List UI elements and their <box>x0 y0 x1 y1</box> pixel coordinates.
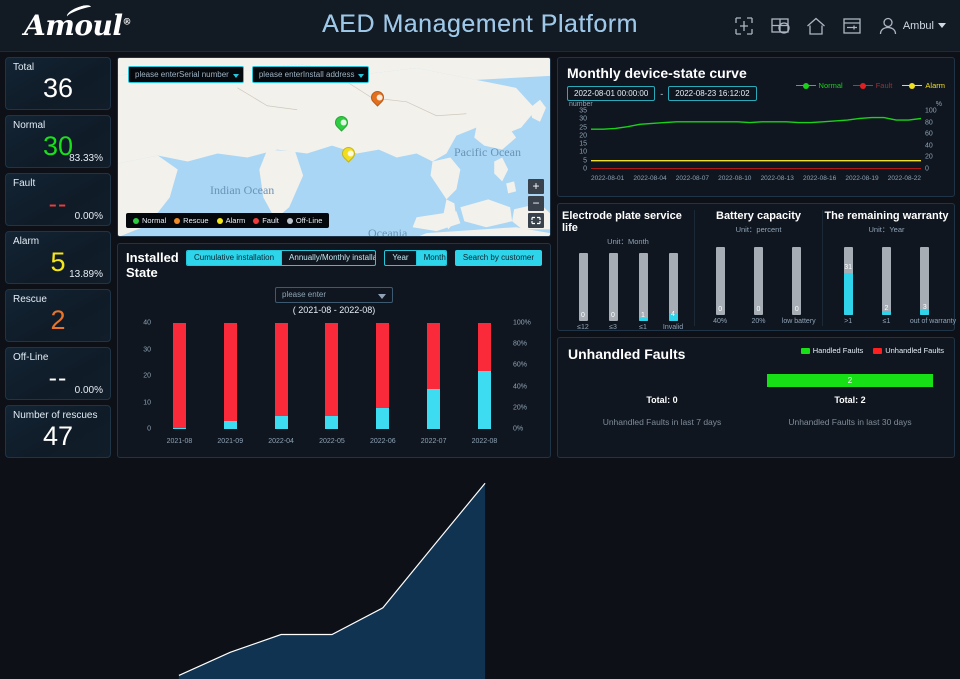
x-tick: 2022-04 <box>264 438 298 445</box>
stat-card-offline[interactable]: Off-Line -- 0.00% <box>5 347 111 400</box>
bar-chart-y-axis-left: 0 10 20 30 40 <box>128 323 154 429</box>
y-tick: 15 <box>579 141 587 148</box>
curve-y-axis-left: 0 5 10 15 20 25 30 35 <box>567 111 589 169</box>
curve-y-axis-right: 0 20 40 60 80 100 <box>923 111 945 169</box>
metric-bar-value: 4 <box>669 311 678 318</box>
y2-tick: 0% <box>513 426 523 433</box>
y-tick: 35 <box>579 108 587 115</box>
center-column: please enterSerial number please enterIn… <box>117 57 551 458</box>
metric-bars: 31 >1 2 ≤1 3 <box>823 235 950 325</box>
map-fullscreen-icon[interactable] <box>528 213 544 228</box>
y2-tick: 40 <box>925 142 933 149</box>
metric-bar[interactable]: 4 Invalid <box>658 253 688 331</box>
metric-bar[interactable]: 2 ≤1 <box>871 241 901 325</box>
x-tick: 2021-08 <box>162 438 196 445</box>
metric-bar-label: ≤12 <box>568 324 598 331</box>
x-tick: 2022-08-10 <box>718 175 751 182</box>
stat-percent: 0.00% <box>75 385 103 396</box>
fault-caption: Unhandled Faults in last 7 days <box>568 417 756 427</box>
stat-value: 2 <box>13 305 103 335</box>
legend-swatch <box>873 348 882 354</box>
y-tick: 10 <box>143 399 151 406</box>
metric-bar-value: 2 <box>882 305 891 312</box>
map-legend: Normal Rescue Alarm Fault <box>126 213 329 228</box>
dashboard-icon[interactable] <box>769 15 791 37</box>
legend-line <box>796 85 816 86</box>
legend-item-handled-faults[interactable]: Handled Faults <box>801 346 863 355</box>
metric-bar-value: 1 <box>639 312 648 319</box>
legend-label: Fault <box>262 216 279 225</box>
curve-date-range: 2022-08-01 00:00:00 - 2022-08-23 16:12:0… <box>567 86 757 101</box>
electrode-plate-service-life: Electrode plate service life Unit：Month … <box>562 210 694 326</box>
stat-card-alarm[interactable]: Alarm 5 13.89% <box>5 231 111 284</box>
y-tick: 30 <box>143 346 151 353</box>
battery-capacity: Battery capacity Unit：percent 0 40% 0 <box>694 210 822 326</box>
metric-unit: Unit：percent <box>736 224 782 235</box>
metric-bar[interactable]: 31 >1 <box>833 241 863 325</box>
legend-item-normal: Normal <box>133 216 166 225</box>
y2-tick: 0 <box>925 166 929 173</box>
stat-value: 36 <box>13 73 103 103</box>
y-tick: 5 <box>583 157 587 164</box>
map-controls: + − <box>528 179 544 228</box>
app-header: Amoul® AED Management Platform <box>0 0 960 52</box>
x-tick: 2022-08 <box>467 438 501 445</box>
metric-bar-label: >1 <box>833 318 863 325</box>
legend-item-fault[interactable]: Fault <box>853 81 893 90</box>
y2-tick: 20% <box>513 404 527 411</box>
brand-logo: Amoul® <box>24 9 131 42</box>
installed-state-chart: 0 10 20 30 40 0% 20% 40% 60% 80% 100% <box>128 319 540 445</box>
stat-value: 47 <box>13 421 103 451</box>
user-icon <box>877 15 899 37</box>
metric-title: Battery capacity <box>716 210 801 222</box>
stat-card-rescue[interactable]: Rescue 2 <box>5 289 111 342</box>
metric-unit: Unit：Year <box>869 224 905 235</box>
y2-tick: 100 <box>925 108 937 115</box>
date-end-input[interactable]: 2022-08-23 16:12:02 <box>668 86 756 101</box>
tab-annually-monthly-installation[interactable]: Annually/Monthly installation <box>281 251 376 265</box>
faults-legend: Handled Faults Unhandled Faults <box>801 346 944 355</box>
metric-bar-label: ≤1 <box>871 318 901 325</box>
metric-bar-label: low battery <box>782 318 812 325</box>
legend-item-fault: Fault <box>253 216 279 225</box>
metric-bar[interactable]: 0 40% <box>705 241 735 325</box>
device-metrics-panel: Electrode plate service life Unit：Month … <box>557 203 955 331</box>
normal-marker[interactable] <box>335 116 348 129</box>
legend-line <box>902 85 922 86</box>
metric-bar-label: ≤3 <box>598 324 628 331</box>
fault-bar-area: 2 <box>756 372 944 388</box>
legend-label: Normal <box>819 81 843 90</box>
legend-dot <box>174 218 180 224</box>
tab-month[interactable]: Month <box>416 251 447 265</box>
y2-tick: 40% <box>513 383 527 390</box>
y-tick: 0 <box>147 426 151 433</box>
metric-title: The remaining warranty <box>824 210 948 222</box>
y-tick: 20 <box>143 373 151 380</box>
metric-bar[interactable]: 0 20% <box>743 241 773 325</box>
map-zoom-out-button[interactable]: − <box>528 196 544 211</box>
curve-header: Monthly device-state curve 2022-08-01 00… <box>567 65 945 101</box>
curve-lines <box>591 111 921 169</box>
ocean-label-oceania: Oceania <box>368 226 407 237</box>
list-icon[interactable] <box>841 15 863 37</box>
search-serial-placeholder: please enterSerial number <box>135 70 229 79</box>
metric-bar-label: out of warranty <box>910 318 940 325</box>
period-tabs: Year Month <box>384 250 446 266</box>
x-tick: 2022-08-01 <box>591 175 624 182</box>
date-start-input[interactable]: 2022-08-01 00:00:00 <box>567 86 655 101</box>
x-tick: 2022-08-07 <box>676 175 709 182</box>
bar-column[interactable] <box>224 323 237 429</box>
bar-column[interactable] <box>275 323 288 429</box>
metric-bar[interactable]: 0 low battery <box>782 241 812 325</box>
legend-item-rescue: Rescue <box>174 216 208 225</box>
installed-state-panel: Installed State Cumulative installation … <box>117 243 551 458</box>
x-tick: 2022-06 <box>366 438 400 445</box>
stat-percent: 0.00% <box>75 211 103 222</box>
bar-chart-x-labels: 2021-08 2021-09 2022-04 2022-05 2022-06 … <box>154 438 510 445</box>
y-tick: 10 <box>579 149 587 156</box>
dashboard-body: Total 36 Normal 30 83.33% Fault -- 0.00%… <box>0 52 960 463</box>
metric-bar-value: 0 <box>609 312 618 319</box>
faults-column-30-days: 2 Total: 2 Unhandled Faults in last 30 d… <box>756 372 944 427</box>
legend-swatch <box>801 348 810 354</box>
remaining-warranty: The remaining warranty Unit：Year 31 >1 2 <box>822 210 950 326</box>
rescue-marker[interactable] <box>371 91 384 104</box>
chevron-down-icon <box>233 74 239 78</box>
legend-dot <box>287 218 293 224</box>
faults-header: Unhandled Faults Handled Faults Unhandle… <box>568 346 944 362</box>
stat-card-fault[interactable]: Fault -- 0.00% <box>5 173 111 226</box>
ocean-label-pacific: Pacific Ocean <box>454 145 521 160</box>
fault-total: Total: 2 <box>756 395 944 405</box>
faults-title: Unhandled Faults <box>568 346 685 362</box>
metric-bar[interactable]: 1 ≤1 <box>628 253 658 331</box>
x-tick: 2021-09 <box>213 438 247 445</box>
alarm-marker[interactable] <box>342 147 355 160</box>
x-tick: 2022-08-13 <box>761 175 794 182</box>
x-tick: 2022-07 <box>417 438 451 445</box>
stat-card-total[interactable]: Total 36 <box>5 57 111 110</box>
legend-label: Normal <box>142 216 166 225</box>
legend-item-unhandled-faults[interactable]: Unhandled Faults <box>873 346 944 355</box>
fullscreen-icon[interactable] <box>733 15 755 37</box>
legend-label: Unhandled Faults <box>885 346 944 355</box>
stats-sidebar: Total 36 Normal 30 83.33% Fault -- 0.00%… <box>5 57 111 458</box>
metric-bar[interactable]: 0 ≤12 <box>568 253 598 331</box>
y-tick: 0 <box>583 166 587 173</box>
curve-plot <box>591 111 921 169</box>
customer-select-row: please enter <box>126 284 542 303</box>
x-tick: 2022-08-19 <box>845 175 878 182</box>
registered-mark: ® <box>123 18 132 28</box>
search-serial-input[interactable]: please enterSerial number <box>128 66 244 83</box>
right-column: Monthly device-state curve 2022-08-01 00… <box>557 57 955 458</box>
legend-label: Handled Faults <box>813 346 863 355</box>
metric-bar-value: 31 <box>844 264 853 271</box>
home-icon[interactable] <box>805 15 827 37</box>
chevron-down-icon <box>358 74 364 78</box>
y-tick: 40 <box>143 320 151 327</box>
curve-legend: Normal Fault Alarm <box>796 81 945 90</box>
installed-state-title: Installed State <box>126 250 178 280</box>
y2-tick: 60 <box>925 131 933 138</box>
bar-column[interactable] <box>325 323 338 429</box>
stat-card-number-of-rescues[interactable]: Number of rescues 47 <box>5 405 111 458</box>
fault-total: Total: 0 <box>568 395 756 405</box>
map-search-bar: please enterSerial number please enterIn… <box>128 66 369 83</box>
search-by-customer-button[interactable]: Search by customer <box>455 250 542 266</box>
installation-mode-tabs: Cumulative installation Annually/Monthly… <box>186 250 376 266</box>
unhandled-faults-panel: Unhandled Faults Handled Faults Unhandle… <box>557 337 955 458</box>
stat-card-normal[interactable]: Normal 30 83.33% <box>5 115 111 168</box>
metric-bars: 0 ≤12 0 ≤3 1 <box>562 247 694 331</box>
bar-column[interactable] <box>173 323 186 429</box>
legend-item-alarm: Alarm <box>217 216 246 225</box>
x-tick: 2022-08-16 <box>803 175 836 182</box>
y2-tick: 100% <box>513 320 531 327</box>
bar-chart-bars <box>154 323 510 429</box>
monthly-device-state-panel: Monthly device-state curve 2022-08-01 00… <box>557 57 955 197</box>
metric-bar-value: 0 <box>716 306 725 313</box>
dashboard-root: Amoul® AED Management Platform <box>0 0 960 463</box>
legend-line <box>853 85 873 86</box>
metric-bar-label: 20% <box>743 318 773 325</box>
fault-bar-area <box>568 372 756 388</box>
bar-chart-plot <box>154 323 510 429</box>
y2-tick: 80% <box>513 341 527 348</box>
customer-select-placeholder: please enter <box>282 290 326 299</box>
metric-bar-value: 0 <box>754 306 763 313</box>
legend-label: Alarm <box>226 216 246 225</box>
metric-bar-label: ≤1 <box>628 324 658 331</box>
user-menu[interactable]: Ambul <box>877 15 946 37</box>
stat-percent: 13.89% <box>69 269 103 280</box>
chevron-down-icon <box>378 294 386 299</box>
curve-title: Monthly device-state curve <box>567 65 757 81</box>
legend-label: Alarm <box>925 81 945 90</box>
legend-dot <box>133 218 139 224</box>
header-icon-bar: Ambul <box>733 15 946 37</box>
chevron-down-icon <box>938 23 946 28</box>
stat-percent: 83.33% <box>69 153 103 164</box>
search-address-placeholder: please enterInstall address <box>259 70 355 79</box>
y-tick: 25 <box>579 124 587 131</box>
bar-column[interactable] <box>376 323 389 429</box>
bar-chart-y-axis-right: 0% 20% 40% 60% 80% 100% <box>510 323 540 429</box>
x-tick: 2022-08-04 <box>633 175 666 182</box>
metric-bar-label: 40% <box>705 318 735 325</box>
tab-year[interactable]: Year <box>385 251 415 265</box>
x-tick: 2022-05 <box>315 438 349 445</box>
legend-label: Fault <box>876 81 893 90</box>
legend-dot <box>217 218 223 224</box>
metric-bar-value: 0 <box>579 312 588 319</box>
user-name-label: Ambul <box>903 20 934 32</box>
map-zoom-in-button[interactable]: + <box>528 179 544 194</box>
installed-state-toolbar: Installed State Cumulative installation … <box>126 250 542 280</box>
date-separator: - <box>660 89 663 99</box>
device-map[interactable]: please enterSerial number please enterIn… <box>117 57 551 237</box>
metric-title: Electrode plate service life <box>562 210 694 234</box>
legend-label: Off-Line <box>296 216 323 225</box>
metric-bar[interactable]: 3 out of warranty <box>910 241 940 325</box>
curve-x-labels: 2022-08-01 2022-08-04 2022-08-07 2022-08… <box>591 175 921 182</box>
ocean-label-indian: Indian Ocean <box>210 183 274 198</box>
legend-item-normal[interactable]: Normal <box>796 81 843 90</box>
curve-normal-line <box>591 118 921 130</box>
legend-item-alarm[interactable]: Alarm <box>902 81 945 90</box>
y-tick: 20 <box>579 132 587 139</box>
y-tick: 30 <box>579 116 587 123</box>
y2-tick: 80 <box>925 119 933 126</box>
faults-column-7-days: Total: 0 Unhandled Faults in last 7 days <box>568 372 756 427</box>
y2-tick: 60% <box>513 362 527 369</box>
legend-label: Rescue <box>183 216 208 225</box>
fault-caption: Unhandled Faults in last 30 days <box>756 417 944 427</box>
search-address-input[interactable]: please enterInstall address <box>252 66 370 83</box>
tab-cumulative-installation[interactable]: Cumulative installation <box>187 251 281 265</box>
metric-bars: 0 40% 0 20% 0 <box>695 235 822 325</box>
fault-bar[interactable]: 2 <box>767 374 932 387</box>
metric-unit: Unit：Month <box>607 236 649 247</box>
faults-body: Total: 0 Unhandled Faults in last 7 days… <box>568 372 944 427</box>
customer-select[interactable]: please enter <box>275 287 393 303</box>
legend-item-offline: Off-Line <box>287 216 323 225</box>
y2-tick: 20 <box>925 154 933 161</box>
x-tick: 2022-08-22 <box>888 175 921 182</box>
metric-bar-value: 3 <box>920 304 929 311</box>
bar-column[interactable] <box>478 323 491 429</box>
date-range-label: ( 2021-08 - 2022-08) <box>126 305 542 315</box>
metric-bar-label: Invalid <box>658 324 688 331</box>
bar-column[interactable] <box>427 323 440 429</box>
metric-bar[interactable]: 0 ≤3 <box>598 253 628 331</box>
monthly-device-state-curve: number % 0 5 10 15 20 25 30 35 0 20 <box>567 103 945 181</box>
metric-bar-value: 0 <box>792 306 801 313</box>
legend-dot <box>253 218 259 224</box>
